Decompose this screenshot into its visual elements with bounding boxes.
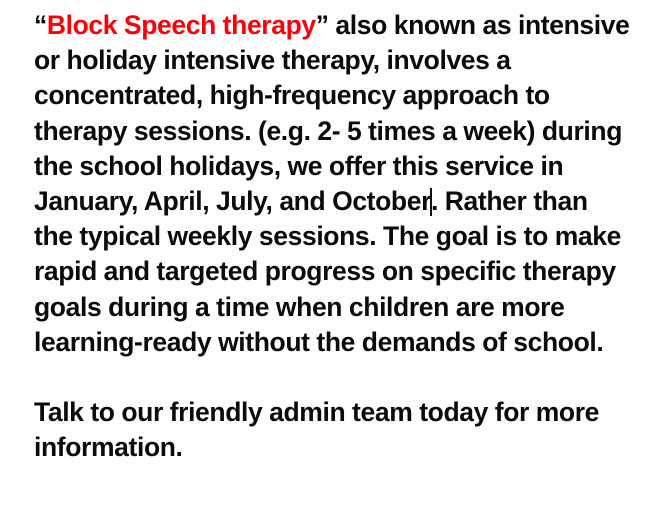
- text-document-body[interactable]: “Block Speech therapy” also known as int…: [0, 0, 656, 525]
- opening-quote-mark: “: [34, 10, 47, 40]
- highlighted-term-block-speech-therapy: Block Speech therapy: [47, 10, 316, 40]
- closing-quote-mark: ”: [316, 10, 329, 40]
- intro-paragraph[interactable]: “Block Speech therapy” also known as int…: [34, 8, 632, 360]
- call-to-action-paragraph[interactable]: Talk to our friendly admin team today fo…: [34, 395, 632, 465]
